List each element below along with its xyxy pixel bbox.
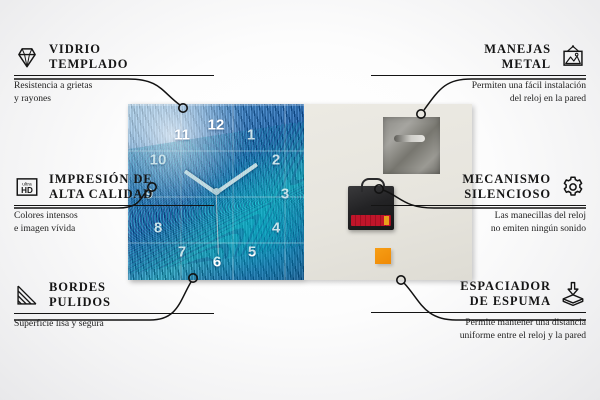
feature-bordes-pulidos: BORDES PULIDOS Superficie lisa y segura [14,280,229,331]
feature-description: Resistencia a grietas y rayones [14,80,229,106]
feature-rule [371,75,586,77]
feature-title: BORDES PULIDOS [49,280,111,310]
feature-rule [14,313,214,315]
feature-description: Permiten una fácil instalación del reloj… [371,80,586,106]
feature-title: VIDRIO TEMPLADO [49,42,128,72]
feature-title: MECANISMO SILENCIOSO [462,172,551,202]
feature-vidrio-templado: VIDRIO TEMPLADO Resistencia a grietas y … [14,42,229,106]
ultra-hd-icon: ultra HD [14,174,40,200]
feature-description: Superficie lisa y segura [14,318,229,331]
feature-title: MANEJAS METAL [484,42,551,72]
feature-rule [371,312,586,314]
feature-mecanismo-silencioso: MECANISMO SILENCIOSO Las manecillas del … [371,172,586,236]
polished-edge-icon [14,282,40,308]
feature-title: IMPRESIÓN DE ALTA CALIDAD [49,172,153,202]
feature-rule [371,205,586,207]
framed-picture-hanging-icon [560,44,586,70]
gear-icon [560,174,586,200]
foam-spacer-arrow-icon [560,281,586,307]
svg-text:HD: HD [21,186,33,195]
feature-impresion-alta-calidad: ultra HD IMPRESIÓN DE ALTA CALIDAD Color… [14,172,229,236]
feature-title: ESPACIADOR DE ESPUMA [460,279,551,309]
infographic-canvas: 12 1 2 3 4 5 6 7 8 9 10 11 [0,0,600,400]
feature-espaciador-espuma: ESPACIADOR DE ESPUMA Permite mantener un… [371,279,586,343]
feature-description: Las manecillas del reloj no emiten ningú… [371,210,586,236]
feature-description: Colores intensos e imagen vívida [14,210,229,236]
connector-endpoint-manejas [417,110,425,118]
feature-description: Permite mantener una distancia uniforme … [371,317,586,343]
feature-rule [14,75,214,77]
diamond-icon [14,44,40,70]
feature-manejas-metal: MANEJAS METAL Permiten una fácil instala… [371,42,586,106]
feature-rule [14,205,214,207]
